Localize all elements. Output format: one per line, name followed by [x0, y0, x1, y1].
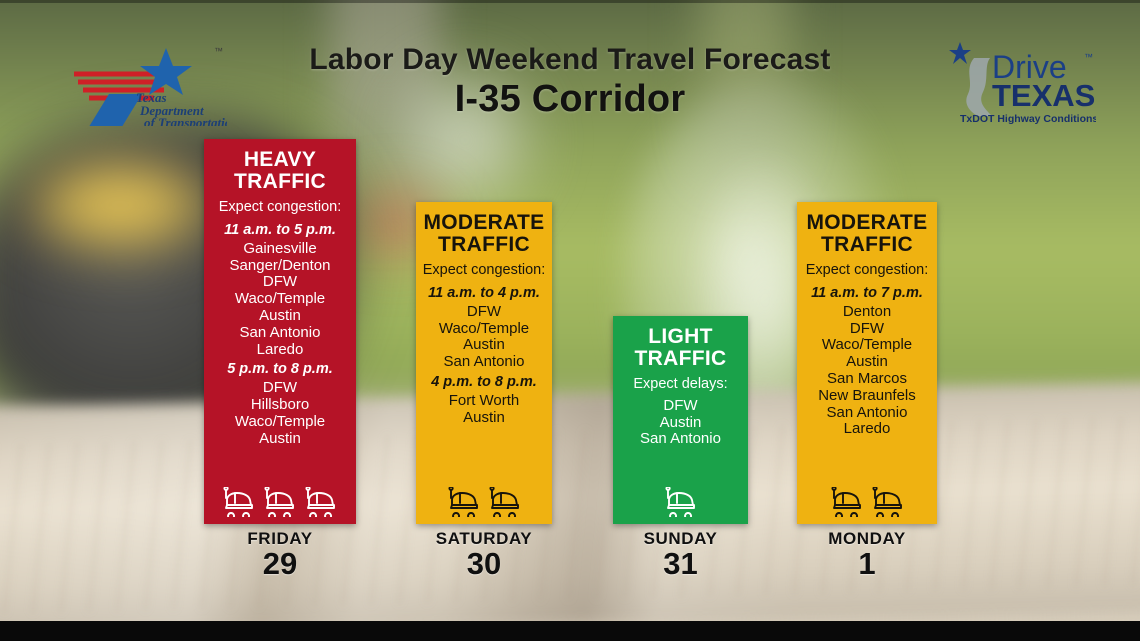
day-date-number: 30	[416, 548, 552, 581]
city-item: San Antonio	[619, 431, 742, 448]
day-date-number: 29	[204, 548, 356, 581]
car-icon	[304, 487, 338, 517]
city-item: Hillsboro	[210, 397, 350, 414]
traffic-car-icons-saturday	[416, 487, 552, 517]
city-item: DFW	[422, 304, 546, 321]
time-range-label: 11 a.m. to 4 p.m.	[422, 284, 546, 303]
city-item: Austin	[619, 415, 742, 432]
car-icon	[447, 487, 481, 517]
city-item: Laredo	[210, 342, 350, 359]
city-item: San Antonio	[803, 405, 931, 422]
city-item: Austin	[422, 337, 546, 354]
time-range-label: 11 a.m. to 5 p.m.	[210, 221, 350, 240]
drive-texas-tagline: TxDOT Highway Conditions	[960, 113, 1096, 125]
car-icon	[871, 487, 905, 517]
card-title-monday: MODERATE TRAFFIC	[803, 212, 931, 257]
txdot-logo: ™ Texas Department of Transportation	[62, 34, 227, 126]
city-item: Austin	[210, 431, 350, 448]
card-subtitle-sunday: Expect delays:	[619, 376, 742, 393]
txdot-word-transportation: of Transportation	[144, 115, 227, 126]
city-item: San Marcos	[803, 371, 931, 388]
city-item: Waco/Temple	[210, 291, 350, 308]
day-date-number: 31	[613, 548, 748, 581]
city-item: Fort Worth	[422, 393, 546, 410]
forecast-card-sunday[interactable]: LIGHT TRAFFICExpect delays:DFWAustinSan …	[613, 316, 748, 524]
city-item: DFW	[803, 321, 931, 338]
time-range-label: 5 p.m. to 8 p.m.	[210, 360, 350, 379]
time-range-label: 11 a.m. to 7 p.m.	[803, 284, 931, 303]
day-footer-friday: FRIDAY29	[204, 530, 356, 580]
city-item: Waco/Temple	[422, 321, 546, 338]
letterbox-bottom	[0, 621, 1140, 641]
day-footer-sunday: SUNDAY31	[613, 530, 748, 580]
time-block-saturday-2: 4 p.m. to 8 p.m.Fort WorthAustin	[422, 373, 546, 426]
card-subtitle-monday: Expect congestion:	[803, 262, 931, 279]
city-item: Austin	[803, 354, 931, 371]
city-item: New Braunfels	[803, 388, 931, 405]
time-block-friday-2: 5 p.m. to 8 p.m.DFWHillsboroWaco/TempleA…	[210, 360, 350, 447]
car-icon	[488, 487, 522, 517]
car-icon	[222, 487, 256, 517]
city-item: Austin	[422, 410, 546, 427]
traffic-car-icons-sunday	[613, 487, 748, 517]
card-subtitle-friday: Expect congestion:	[210, 199, 350, 216]
card-title-friday: HEAVY TRAFFIC	[210, 149, 350, 194]
city-item: DFW	[210, 380, 350, 397]
day-date-number: 1	[797, 548, 937, 581]
day-footer-saturday: SATURDAY30	[416, 530, 552, 580]
drive-texas-word-texas: TEXAS	[992, 78, 1095, 113]
city-item: DFW	[619, 398, 742, 415]
city-item: Waco/Temple	[210, 414, 350, 431]
time-block-friday-1: 11 a.m. to 5 p.m.GainesvilleSanger/Dento…	[210, 221, 350, 358]
city-item: DFW	[210, 274, 350, 291]
background-food	[10, 150, 230, 260]
drive-texas-logo: Drive ™ TEXAS TxDOT Highway Conditions	[944, 36, 1096, 128]
car-icon	[664, 487, 698, 517]
city-item: Gainesville	[210, 241, 350, 258]
card-title-sunday: LIGHT TRAFFIC	[619, 326, 742, 371]
forecast-card-monday[interactable]: MODERATE TRAFFICExpect congestion:11 a.m…	[797, 202, 937, 524]
traffic-car-icons-friday	[204, 487, 356, 517]
drive-texas-road-icon	[966, 58, 992, 116]
city-item: Sanger/Denton	[210, 258, 350, 275]
city-item: San Antonio	[210, 325, 350, 342]
card-subtitle-saturday: Expect congestion:	[422, 262, 546, 279]
city-item: Laredo	[803, 421, 931, 438]
city-item: San Antonio	[422, 354, 546, 371]
forecast-card-friday[interactable]: HEAVY TRAFFICExpect congestion:11 a.m. t…	[204, 139, 356, 524]
traffic-car-icons-monday	[797, 487, 937, 517]
txdot-tm-mark: ™	[214, 46, 223, 56]
car-icon	[263, 487, 297, 517]
drive-texas-tm-mark: ™	[1084, 52, 1093, 62]
drive-texas-star-icon	[949, 42, 971, 64]
day-footer-monday: MONDAY1	[797, 530, 937, 580]
city-item: Denton	[803, 304, 931, 321]
letterbox-top	[0, 0, 1140, 3]
time-range-label: 4 p.m. to 8 p.m.	[422, 373, 546, 392]
time-block-saturday-1: 11 a.m. to 4 p.m.DFWWaco/TempleAustinSan…	[422, 284, 546, 371]
card-title-saturday: MODERATE TRAFFIC	[422, 212, 546, 257]
city-item: Austin	[210, 308, 350, 325]
forecast-card-saturday[interactable]: MODERATE TRAFFICExpect congestion:11 a.m…	[416, 202, 552, 524]
time-block-monday-1: 11 a.m. to 7 p.m.DentonDFWWaco/TempleAus…	[803, 284, 931, 438]
travel-forecast-graphic: ™ Texas Department of Transportation Dri…	[0, 0, 1140, 641]
background-wood-grain	[0, 415, 1140, 614]
car-icon	[830, 487, 864, 517]
city-item: Waco/Temple	[803, 337, 931, 354]
time-block-sunday-1: DFWAustinSan Antonio	[619, 398, 742, 448]
